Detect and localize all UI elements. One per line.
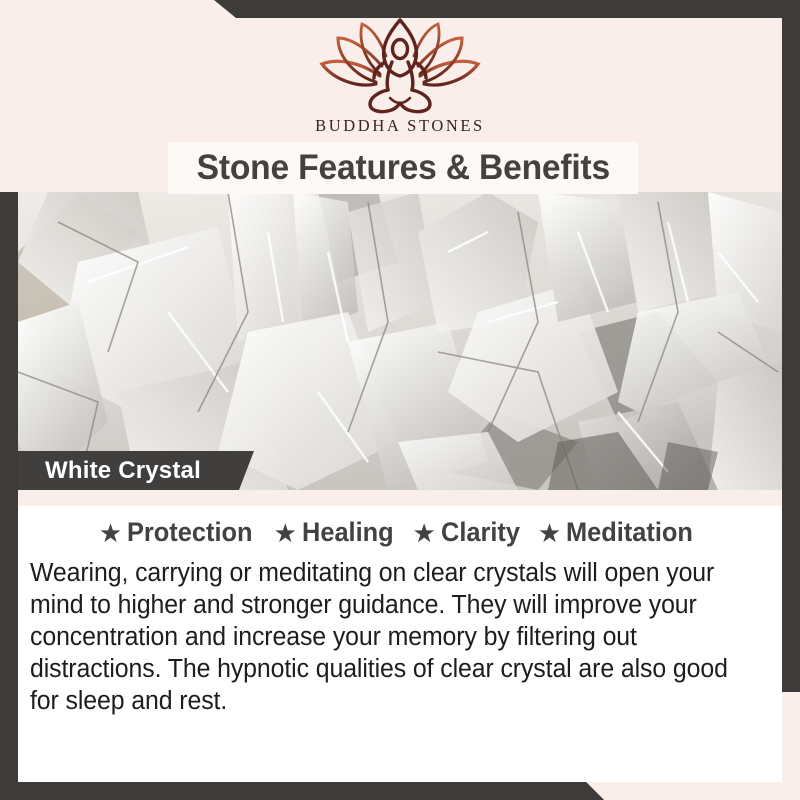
content-section: ★ Protection ★ Healing ★ Clarity ★ Medit… (18, 506, 782, 782)
benefits-list: ★ Protection ★ Healing ★ Clarity ★ Medit… (18, 506, 782, 548)
white-crystal-cluster-photo (18, 192, 782, 490)
description-paragraph: Wearing, carrying or meditating on clear… (30, 557, 752, 717)
frame-edge-left (0, 192, 18, 800)
benefit-label: Protection (127, 517, 253, 548)
stone-benefits-poster: BUDDHA STONES (0, 0, 800, 800)
benefit-item-meditation: ★ Meditation (538, 517, 701, 548)
benefit-label: Clarity (441, 517, 520, 548)
frame-corner-top-left (0, 0, 236, 18)
brand-name: BUDDHA STONES (315, 116, 485, 136)
stone-name-badge: White Crystal (18, 451, 254, 490)
star-icon: ★ (538, 520, 561, 546)
benefit-item-protection: ★ Protection (99, 517, 261, 548)
star-icon: ★ (99, 520, 122, 546)
benefit-label: Meditation (566, 517, 693, 548)
brand-logo-group: BUDDHA STONES (0, 18, 800, 136)
stone-name-label: White Crystal (45, 457, 201, 485)
star-icon: ★ (274, 520, 297, 546)
cream-divider-strip (18, 490, 782, 506)
star-icon: ★ (413, 520, 436, 546)
lotus-meditation-icon (312, 18, 488, 114)
page-title: Stone Features & Benefits (196, 148, 609, 188)
frame-edge-right (782, 0, 800, 692)
benefit-item-healing: ★ Healing (274, 517, 400, 548)
benefit-item-clarity: ★ Clarity (413, 517, 525, 548)
benefit-label: Healing (302, 517, 394, 548)
page-title-band: Stone Features & Benefits (168, 142, 638, 194)
